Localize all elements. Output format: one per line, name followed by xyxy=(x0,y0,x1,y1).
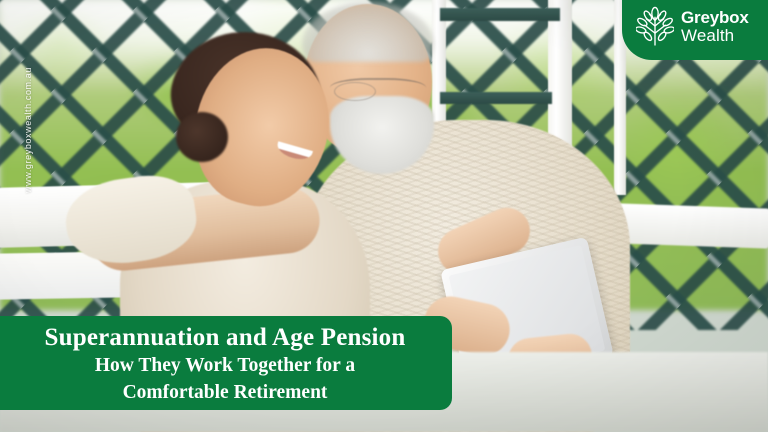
title-banner: Superannuation and Age Pension How They … xyxy=(0,316,452,410)
page-subtitle-line-1: How They Work Together for a xyxy=(14,354,436,379)
brand-logo[interactable]: Greybox Wealth xyxy=(622,0,768,60)
pergola-rail-mid xyxy=(440,92,552,104)
page-title: Superannuation and Age Pension xyxy=(14,324,436,352)
tree-icon xyxy=(636,6,674,46)
site-watermark: www.greyboxwealth.com.au xyxy=(23,50,33,210)
logo-line-1: Greybox xyxy=(681,9,749,26)
logo-line-2: Wealth xyxy=(681,27,749,44)
eyeglasses-icon xyxy=(330,78,426,102)
woman-hair-bun xyxy=(176,112,228,162)
logo-inner: Greybox Wealth xyxy=(636,6,749,46)
hero-banner-image: www.greyboxwealth.com.au xyxy=(0,0,768,432)
page-subtitle-line-2: Comfortable Retirement xyxy=(14,381,436,406)
logo-wordmark: Greybox Wealth xyxy=(681,9,749,44)
pergola-rail-top xyxy=(440,8,560,21)
